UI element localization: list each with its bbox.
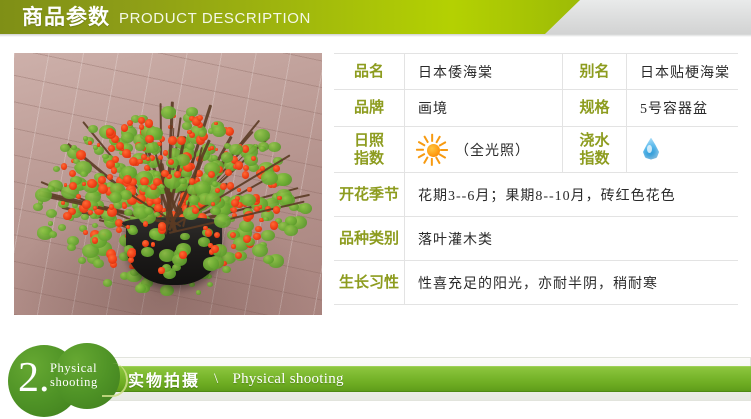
product-description-page: 商品参数 PRODUCT DESCRIPTION 品名 日本倭海棠 别名 日本贴… [0,0,751,419]
plant-blossom [98,184,108,194]
plant-leaf-cluster [141,247,154,258]
spec-label-sunlight-line1: 日照 [354,132,384,149]
plant-blossom [88,210,93,215]
sun-ray [431,134,433,142]
plant-leaf-cluster [203,257,219,270]
spec-value-blooming-season: 花期3--6月；果期8--10月，砖红色花色 [404,173,738,216]
plant-leaf-cluster [259,146,266,152]
section-banner-text-group: 实物拍摄 \ Physical shooting [128,366,344,392]
plant-leaf-cluster [229,144,243,155]
plant-leaf-cluster [49,231,57,237]
spec-label-watering-line1: 浇水 [579,132,609,149]
spec-value-growth-habit: 性喜充足的阳光，亦耐半阴，稍耐寒 [404,261,738,304]
plant-blossom [82,200,91,209]
spec-value-product-name: 日本倭海棠 [404,54,562,89]
plant-leaf-cluster [180,233,189,241]
table-row: 生长习性 性喜充足的阳光，亦耐半阴，稍耐寒 [334,261,738,305]
spec-value-watering-index [626,127,738,172]
spec-value-variety-category: 落叶灌木类 [404,217,738,260]
spec-value-specification: 5号容器盆 [626,90,738,126]
plant-leaf-cluster [211,155,219,161]
page-title-cn: 商品参数 [22,7,110,28]
plant-blossom [179,251,186,258]
plant-blossom [116,227,122,233]
spec-label-growth-habit: 生长习性 [334,261,404,304]
plant-blossom [144,165,150,171]
table-row: 品种类别 落叶灌木类 [334,217,738,261]
plant-blossom [145,135,154,144]
sun-ray [440,149,448,151]
sun-ray [418,153,426,158]
plant-blossom [127,249,136,258]
plant-leaf-cluster [214,214,231,228]
sun-ray [439,153,447,158]
page-header: 商品参数 PRODUCT DESCRIPTION [0,0,751,34]
plant-leaf-cluster [135,143,145,151]
table-row: 日照 指数 （全光照） 浇水 指数 [334,127,738,173]
badge-label-line1: Physical [50,361,98,375]
plant-blossom [247,187,251,191]
table-row: 开花季节 花期3--6月；果期8--10月，砖红色花色 [334,173,738,217]
spec-value-brand: 画境 [404,90,562,126]
plant-blossom [83,230,88,235]
plant-blossom [108,145,115,152]
plant-blossom [147,200,153,206]
plant-blossom [208,171,215,178]
plant-blossom [187,130,191,134]
table-row: 品牌 画境 规格 5号容器盆 [334,90,738,127]
plant-canopy-front [14,53,322,315]
plant-blossom [163,150,169,156]
plant-leaf-cluster [135,284,146,293]
plant-leaf-cluster [241,194,256,206]
water-drop-icon [640,136,662,164]
spec-label-watering-index: 浇水 指数 [562,127,626,172]
plant-blossom [61,201,65,205]
plant-leaf-cluster [124,209,133,216]
sunlight-value-group: （全光照） [418,135,530,165]
plant-blossom [214,232,220,238]
plant-leaf-cluster [161,106,177,119]
plant-leaf-cluster [98,229,113,241]
spec-label-product-name: 品名 [334,54,404,89]
section-title-separator: \ [214,371,218,388]
plant-blossom [273,206,281,214]
sun-ray [435,156,440,164]
plant-leaf-cluster [212,125,227,137]
spec-label-specification: 规格 [562,90,626,126]
plant-blossom [205,229,212,236]
plant-blossom [139,124,144,129]
spec-label-sunlight-index: 日照 指数 [334,127,404,172]
spec-label-alias: 别名 [562,54,626,89]
plant-blossom [158,267,164,273]
spec-label-blooming-season: 开花季节 [334,173,404,216]
badge-label: Physical shooting [50,361,98,389]
plant-blossom [141,154,147,160]
plant-blossom [235,161,244,170]
plant-leaf-cluster [128,227,138,235]
header-title-group: 商品参数 PRODUCT DESCRIPTION [22,0,311,34]
plant-blossom [93,206,97,210]
spec-value-sunlight-index: （全光照） [404,127,562,172]
spec-value-alias: 日本贴梗海棠 [626,54,738,89]
plant-leaf-cluster [109,192,123,203]
page-title-en: PRODUCT DESCRIPTION [119,9,311,26]
plant-blossom [211,245,219,253]
sun-ray [431,158,433,166]
plant-leaf-cluster [67,244,76,251]
plant-leaf-cluster [35,188,53,202]
plant-leaf-cluster [188,195,200,205]
spec-value-sunlight-text: （全光照） [455,140,530,160]
sun-ray [423,156,428,164]
spec-label-brand: 品牌 [334,90,404,126]
plant-blossom [122,203,127,208]
sun-icon [418,135,448,165]
plant-blossom [177,136,187,146]
plant-leaf-cluster [261,171,278,185]
plant-blossom [174,171,181,178]
plant-leaf-cluster [263,217,269,222]
plant-leaf-cluster [284,225,298,236]
plant-blossom [260,166,265,171]
section-number-badge: 2. Physical shooting [6,341,130,419]
plant-leaf-cluster [212,181,219,186]
plant-blossom [197,115,203,121]
plant-blossom [168,136,177,145]
plant-blossom [151,242,155,246]
section-title-en: Physical shooting [232,371,343,388]
table-row: 品名 日本倭海棠 别名 日本贴梗海棠 [334,53,738,90]
plant-leaf-cluster [80,171,88,177]
product-photo-canvas [14,53,322,315]
plant-blossom [161,170,168,177]
plant-leaf-cluster [33,203,43,211]
badge-number: 2. [18,357,50,399]
sun-ray [439,141,447,146]
plant-blossom [61,163,68,170]
plant-blossom [111,167,118,174]
plant-leaf-cluster [198,130,206,137]
plant-blossom [128,257,134,263]
plant-blossom [82,182,86,186]
plant-blossom [210,146,214,150]
sun-ray [423,136,428,144]
plant-blossom [123,175,132,184]
plant-blossom [154,204,163,213]
water-drop-highlight [647,145,652,153]
badge-swoosh-icon [102,363,128,397]
spec-label-sunlight-line2: 指数 [354,150,384,167]
badge-label-line2: shooting [50,375,98,389]
spec-label-variety-category: 品种类别 [334,217,404,260]
plant-blossom [192,207,198,213]
header-underline [0,34,751,37]
plant-blossom [143,221,148,226]
section-title-cn: 实物拍摄 [128,367,200,391]
plant-leaf-cluster [146,142,159,153]
sun-ray [418,141,426,146]
product-photo [14,53,322,315]
sun-ray [416,149,424,151]
plant-leaf-cluster [252,244,268,257]
spec-label-watering-line2: 指数 [579,150,609,167]
plant-blossom [255,226,261,232]
sun-ray [435,136,440,144]
spec-table: 品名 日本倭海棠 别名 日本贴梗海棠 品牌 画境 规格 5号容器盆 日照 指数 … [334,53,738,305]
plant-blossom [142,240,149,247]
